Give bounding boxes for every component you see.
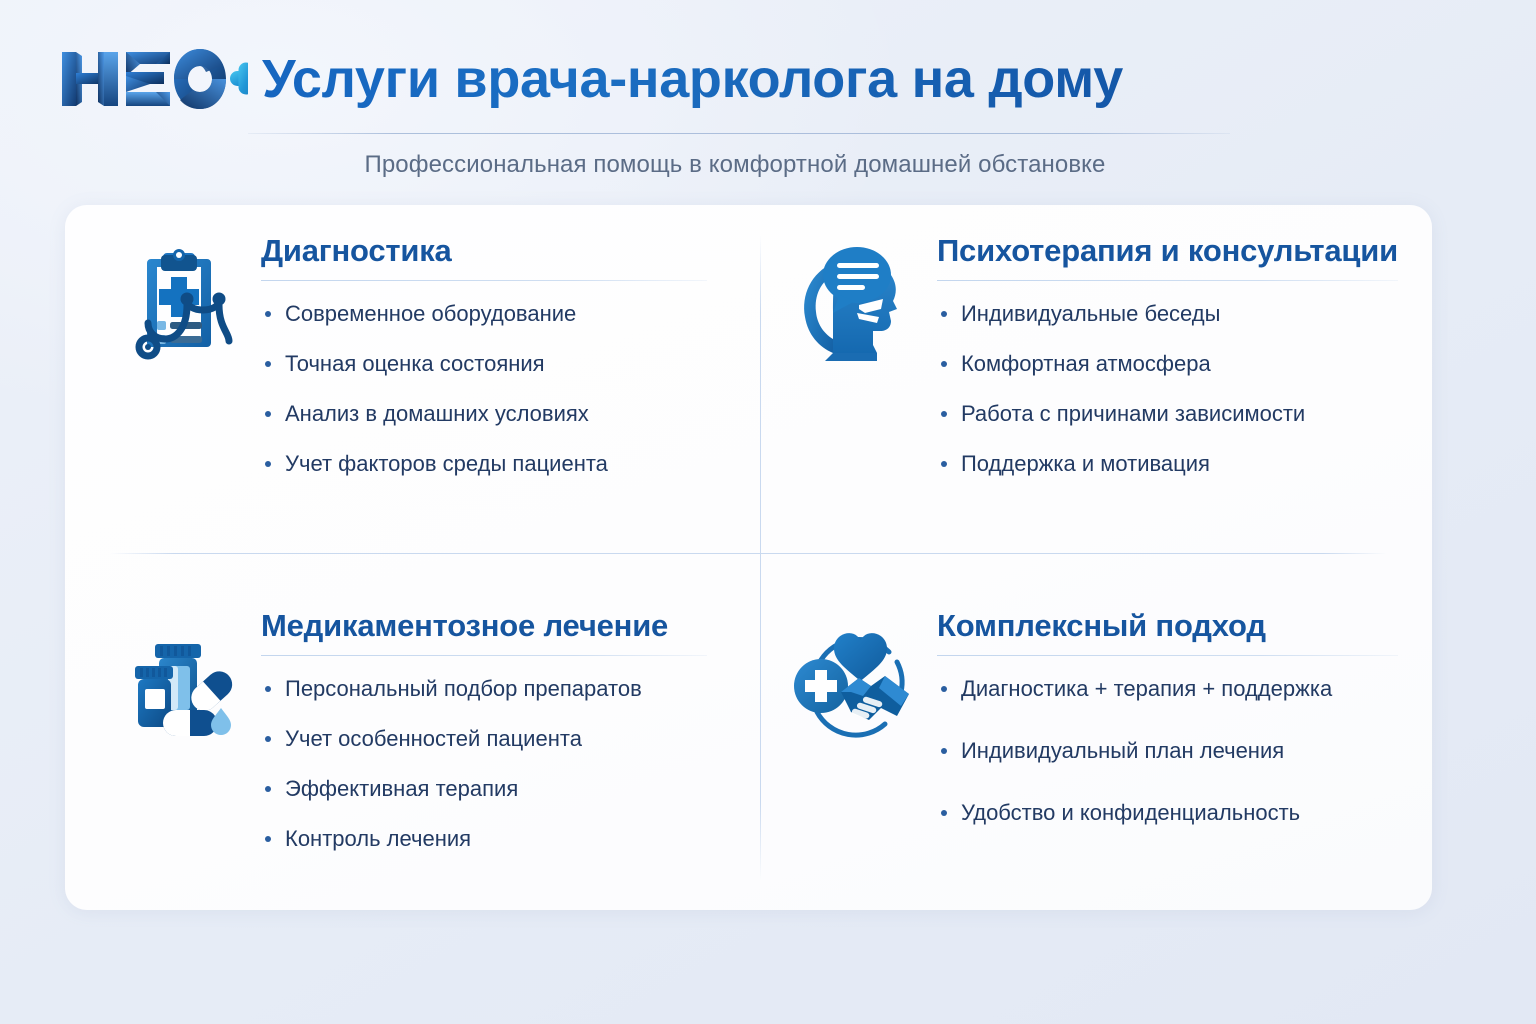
services-panel: Диагностика Современное оборудование Точ… (65, 205, 1432, 910)
card-title: Диагностика (261, 231, 707, 271)
service-card-psychotherapy: Психотерапия и консультации Индивидуальн… (741, 205, 1432, 558)
list-item: Удобство и конфиденциальность (937, 798, 1398, 827)
card-bullet-list: Персональный подбор препаратов Учет особ… (261, 656, 707, 853)
card-title: Психотерапия и консультации (937, 231, 1398, 271)
brand-row: Услуги врача-нарколога на дому (60, 40, 1123, 118)
list-item: Индивидуальный план лечения (937, 736, 1398, 765)
list-item: Комфортная атмосфера (937, 349, 1398, 378)
card-body: Психотерапия и консультации Индивидуальн… (937, 227, 1398, 499)
card-body: Медикаментозное лечение Персональный под… (261, 602, 707, 874)
list-item: Современное оборудование (261, 299, 707, 328)
head-speech-bubble-icon (785, 235, 921, 371)
heart-handshake-cross-icon (785, 616, 921, 752)
infographic-page: Услуги врача-нарколога на дому Профессио… (0, 0, 1536, 1024)
list-item: Точная оценка состояния (261, 349, 707, 378)
list-item: Работа с причинами зависимости (937, 399, 1398, 428)
card-body: Диагностика Современное оборудование Точ… (261, 227, 707, 499)
list-item: Персональный подбор препаратов (261, 674, 707, 703)
card-bullet-list: Индивидуальные беседы Комфортная атмосфе… (937, 281, 1398, 478)
card-title: Медикаментозное лечение (261, 606, 707, 646)
list-item: Диагностика + терапия + поддержка (937, 674, 1398, 703)
list-item: Анализ в домашних условиях (261, 399, 707, 428)
list-item: Контроль лечения (261, 824, 707, 853)
list-item: Индивидуальные беседы (937, 299, 1398, 328)
card-bullet-list: Диагностика + терапия + поддержка Индиви… (937, 656, 1398, 827)
clipboard-stethoscope-icon (109, 235, 245, 371)
page-subtitle: Профессиональная помощь в комфортной дом… (0, 148, 1470, 182)
service-card-diagnostics: Диагностика Современное оборудование Точ… (65, 205, 741, 558)
header: Услуги врача-нарколога на дому Профессио… (0, 0, 1536, 196)
list-item: Учет особенностей пациента (261, 724, 707, 753)
list-item: Поддержка и мотивация (937, 449, 1398, 478)
service-card-complex-approach: Комплексный подход Диагностика + терапия… (741, 558, 1432, 911)
list-item: Учет факторов среды пациента (261, 449, 707, 478)
page-title: Услуги врача-нарколога на дому (248, 47, 1123, 111)
card-bullet-list: Современное оборудование Точная оценка с… (261, 281, 707, 478)
card-body: Комплексный подход Диагностика + терапия… (937, 602, 1398, 860)
neo-plus-logo-icon (60, 46, 248, 112)
card-title: Комплексный подход (937, 606, 1398, 646)
services-grid: Диагностика Современное оборудование Точ… (65, 205, 1432, 910)
service-card-medication: Медикаментозное лечение Персональный под… (65, 558, 741, 911)
pill-bottles-capsules-icon (109, 616, 245, 752)
list-item: Эффективная терапия (261, 774, 707, 803)
header-divider (248, 133, 1230, 134)
